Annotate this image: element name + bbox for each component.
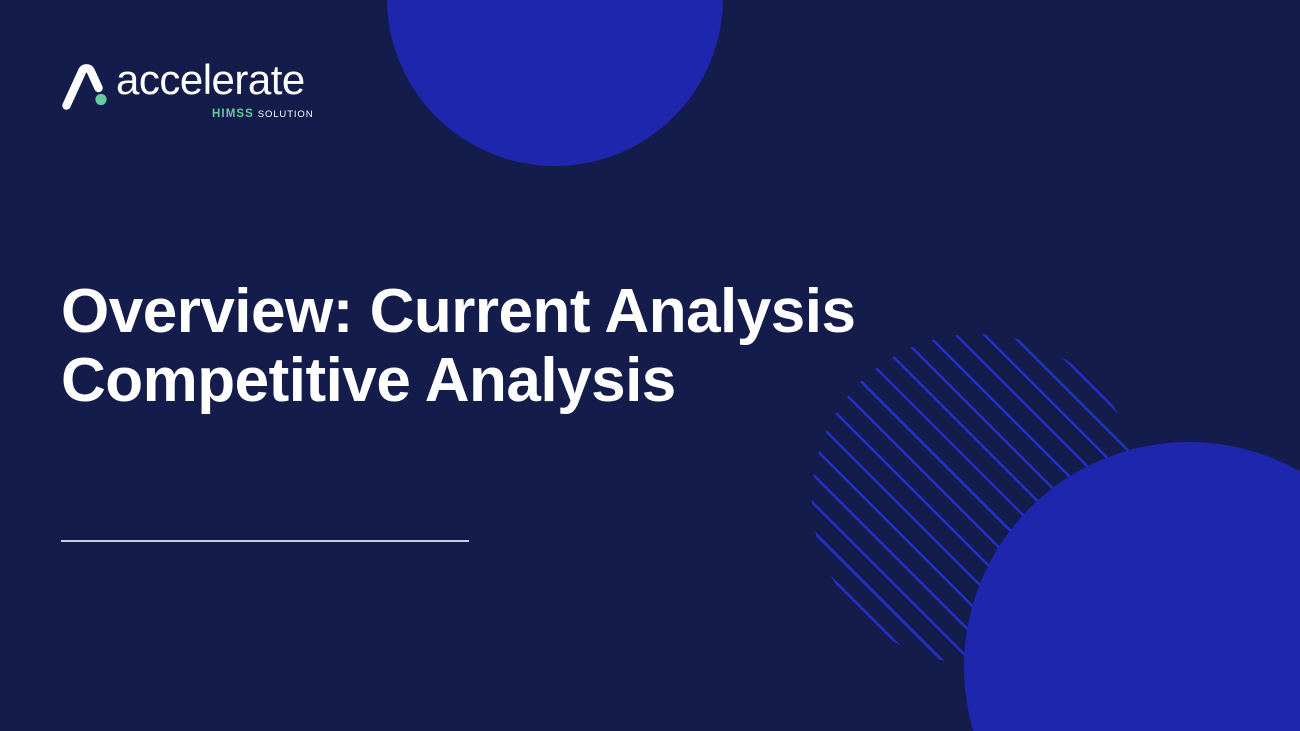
logo-tagline-solution: SOLUTION: [258, 109, 314, 120]
title-divider: [61, 540, 469, 542]
bottom-right-blue-circle: [964, 442, 1300, 731]
accelerate-logo: accelerate HIMSS SOLUTION: [60, 58, 310, 124]
title-slide: accelerate HIMSS SOLUTION Overview: Curr…: [0, 0, 1300, 731]
logo-tagline-himss: HIMSS: [212, 108, 254, 120]
accelerate-a-mark-icon: [60, 62, 110, 110]
accelerate-wordmark: accelerate: [116, 58, 308, 106]
page-title: Overview: Current Analysis Competitive A…: [61, 277, 1171, 416]
logo-tagline: HIMSS SOLUTION: [212, 106, 312, 122]
top-blue-semicircle: [387, 0, 723, 166]
svg-text:accelerate: accelerate: [116, 58, 305, 103]
